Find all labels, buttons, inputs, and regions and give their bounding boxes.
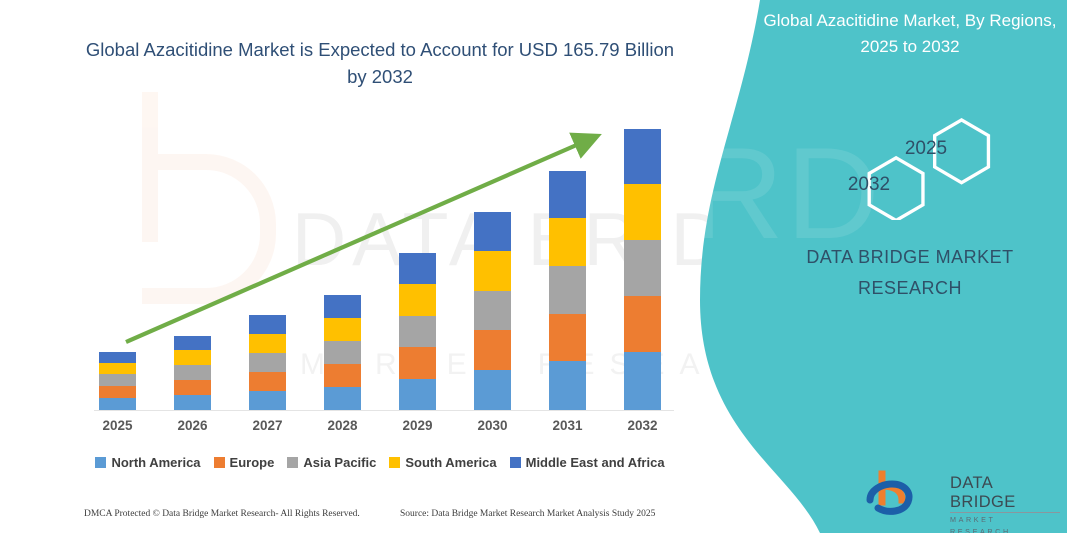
bar-group xyxy=(80,120,680,410)
infographic-root: DATA BRIDGE MARKET RESEARCH Global Azaci… xyxy=(0,0,1067,533)
stacked-bar xyxy=(249,315,286,410)
bar-segment xyxy=(549,361,586,410)
baseline-axis xyxy=(94,410,674,411)
bar-segment xyxy=(399,284,436,315)
legend-swatch-icon xyxy=(287,457,298,468)
x-axis-tick-label: 2030 xyxy=(455,418,530,433)
brand-panel-title: Global Azacitidine Market, By Regions, 2… xyxy=(760,8,1060,60)
brand-panel-name: DATA BRIDGE MARKET RESEARCH xyxy=(760,242,1060,304)
chart-title: Global Azacitidine Market is Expected to… xyxy=(80,36,680,90)
footer-copyright: DMCA Protected © Data Bridge Market Rese… xyxy=(84,509,360,519)
bar-segment xyxy=(324,318,361,341)
logo-subtitle: MARKET RESEARCH xyxy=(950,512,1060,533)
bar-segment xyxy=(549,218,586,265)
stacked-bar xyxy=(324,295,361,410)
bar-segment xyxy=(174,336,211,351)
bar-segment xyxy=(99,363,136,374)
bar-segment xyxy=(249,391,286,410)
bar-segment xyxy=(399,347,436,378)
bar-segment xyxy=(549,171,586,218)
x-axis-tick-label: 2025 xyxy=(80,418,155,433)
stacked-bar xyxy=(99,352,136,410)
hexagon-left-label: 2032 xyxy=(848,174,890,195)
legend-item[interactable]: Middle East and Africa xyxy=(510,455,665,470)
hexagon-right-label: 2025 xyxy=(905,138,947,159)
bar-segment xyxy=(99,374,136,386)
bar-segment xyxy=(324,295,361,318)
plot-area xyxy=(80,120,680,411)
bar-column xyxy=(380,120,455,410)
legend-label: North America xyxy=(111,455,200,470)
bar-segment xyxy=(249,353,286,372)
bar-column xyxy=(155,120,230,410)
chart-legend: North AmericaEuropeAsia PacificSouth Ame… xyxy=(80,455,680,470)
legend-item[interactable]: South America xyxy=(389,455,496,470)
hexagon-badges: 2025 2032 xyxy=(700,110,1067,220)
legend-label: South America xyxy=(405,455,496,470)
bar-column xyxy=(605,120,680,410)
x-axis-tick-label: 2028 xyxy=(305,418,380,433)
legend-swatch-icon xyxy=(95,457,106,468)
bar-segment xyxy=(99,386,136,398)
legend-item[interactable]: Asia Pacific xyxy=(287,455,376,470)
bar-segment xyxy=(399,379,436,410)
stacked-bar xyxy=(399,253,436,410)
bar-segment xyxy=(549,266,586,314)
bar-segment xyxy=(174,350,211,365)
footer: DMCA Protected © Data Bridge Market Rese… xyxy=(0,506,760,528)
bar-segment xyxy=(324,364,361,387)
x-axis-tick-label: 2026 xyxy=(155,418,230,433)
bar-segment xyxy=(624,129,661,184)
legend-item[interactable]: North America xyxy=(95,455,200,470)
bar-segment xyxy=(99,352,136,363)
bar-segment xyxy=(99,398,136,410)
legend-swatch-icon xyxy=(510,457,521,468)
x-axis-labels: 20252026202720282029203020312032 xyxy=(80,418,680,433)
x-axis-tick-label: 2029 xyxy=(380,418,455,433)
bar-segment xyxy=(249,315,286,334)
bar-segment xyxy=(474,291,511,331)
bar-column xyxy=(305,120,380,410)
legend-swatch-icon xyxy=(389,457,400,468)
bar-segment xyxy=(174,395,211,410)
bar-segment xyxy=(174,365,211,380)
bar-column xyxy=(530,120,605,410)
bar-segment xyxy=(624,184,661,240)
footer-source: Source: Data Bridge Market Research Mark… xyxy=(400,509,655,519)
stacked-bar xyxy=(174,336,211,410)
legend-label: Asia Pacific xyxy=(303,455,376,470)
bar-segment xyxy=(249,372,286,391)
bar-segment xyxy=(474,330,511,370)
bar-segment xyxy=(324,387,361,410)
bar-segment xyxy=(549,314,586,362)
bar-segment xyxy=(399,253,436,284)
logo-name: DATA BRIDGE xyxy=(950,474,1060,512)
bar-segment xyxy=(474,212,511,251)
bar-segment xyxy=(249,334,286,353)
stacked-bar xyxy=(549,171,586,410)
legend-label: Middle East and Africa xyxy=(526,455,665,470)
x-axis-tick-label: 2027 xyxy=(230,418,305,433)
stacked-bar xyxy=(624,129,661,410)
bar-column xyxy=(230,120,305,410)
x-axis-tick-label: 2032 xyxy=(605,418,680,433)
bar-column xyxy=(80,120,155,410)
bar-segment xyxy=(174,380,211,395)
brand-name-line2: RESEARCH xyxy=(760,273,1060,304)
brand-name-line1: DATA BRIDGE MARKET xyxy=(760,242,1060,273)
legend-item[interactable]: Europe xyxy=(214,455,275,470)
bar-segment xyxy=(624,240,661,296)
bar-segment xyxy=(399,316,436,347)
chart-panel: DATA BRIDGE MARKET RESEARCH Global Azaci… xyxy=(0,0,760,533)
stacked-bar xyxy=(474,212,511,410)
bar-segment xyxy=(474,251,511,290)
legend-label: Europe xyxy=(230,455,275,470)
x-axis-tick-label: 2031 xyxy=(530,418,605,433)
bar-column xyxy=(455,120,530,410)
bar-segment xyxy=(474,370,511,410)
bar-segment xyxy=(624,352,661,410)
bar-segment xyxy=(324,341,361,364)
company-logo-text: DATA BRIDGE MARKET RESEARCH xyxy=(950,474,1060,533)
bar-segment xyxy=(624,296,661,352)
legend-swatch-icon xyxy=(214,457,225,468)
